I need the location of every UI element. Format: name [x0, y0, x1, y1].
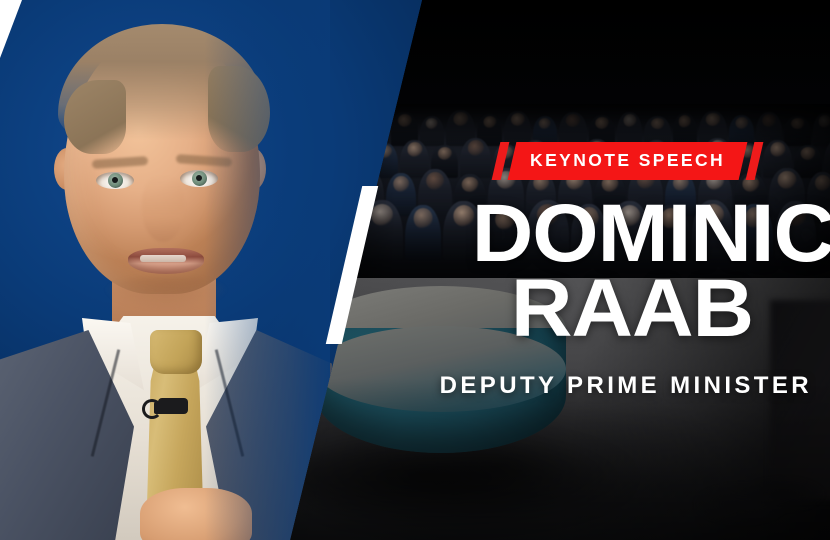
- speaker-role: DEPUTY PRIME MINISTER: [0, 372, 830, 400]
- keynote-badge: KEYNOTE SPEECH: [496, 142, 759, 180]
- keynote-badge-bar: KEYNOTE SPEECH: [508, 142, 748, 180]
- promo-graphic: KEYNOTE SPEECH DOMINIC RAAB DEPUTY PRIME…: [0, 0, 830, 540]
- keynote-badge-label: KEYNOTE SPEECH: [530, 152, 725, 170]
- speaker-first-name: DOMINIC: [0, 196, 830, 271]
- speaker-last-name: RAAB: [0, 271, 830, 346]
- speaker-name-block: DOMINIC RAAB: [0, 196, 830, 347]
